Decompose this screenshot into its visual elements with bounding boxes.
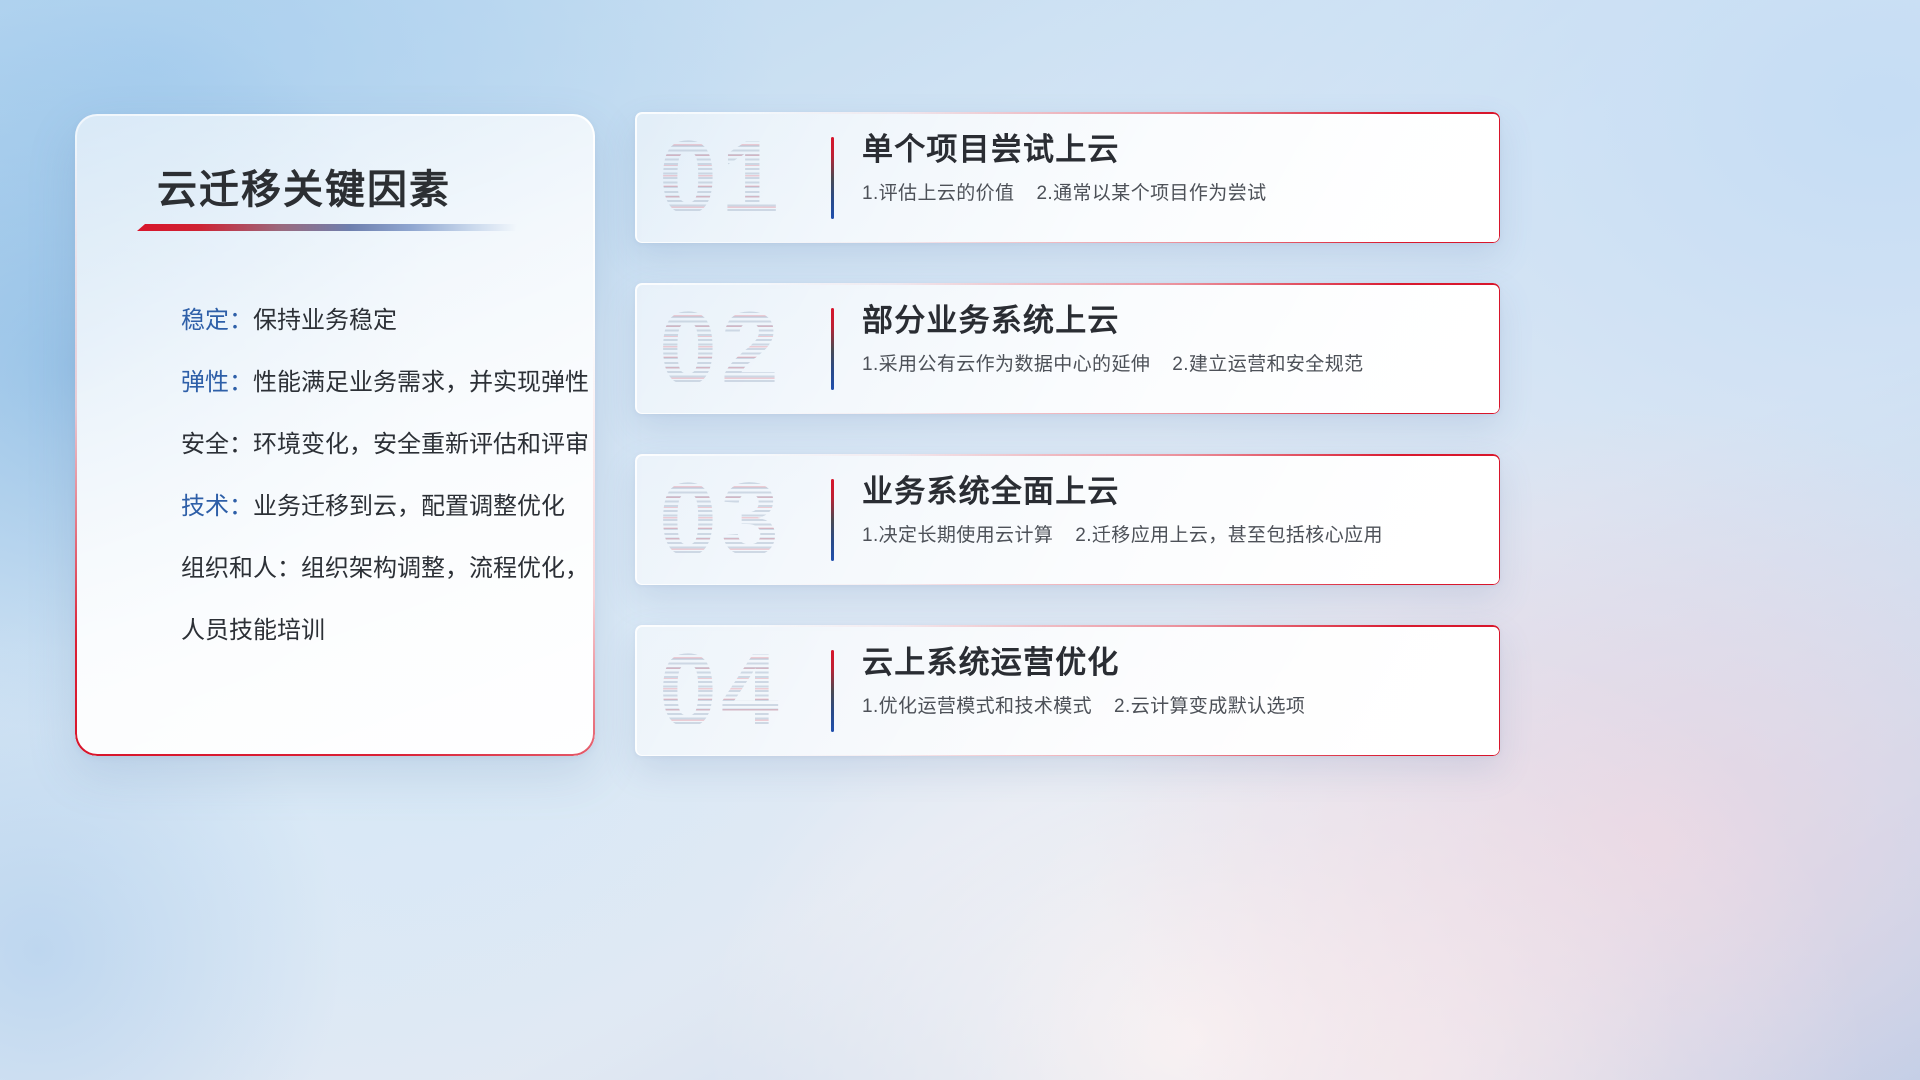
step-title: 单个项目尝试上云 (862, 131, 1476, 170)
step-number-watermark: 02 (659, 283, 809, 414)
list-item: 技术： 业务迁移到云，配置调整优化 (101, 486, 575, 548)
list-item-key: 技术： (181, 486, 253, 521)
list-item-value: 性能满足业务需求，并实现弹性 (253, 362, 589, 397)
list-item-key: 安全： (181, 424, 253, 459)
step-card[interactable]: 03 03 业务系统全面上云 1.决定长期使用云计算2.迁移应用上云，甚至包括核… (635, 454, 1500, 585)
step-point-1: 1.优化运营模式和技术模式 (862, 696, 1092, 717)
step-subtitle: 1.采用公有云作为数据中心的延伸2.建立运营和安全规范 (862, 352, 1476, 378)
step-point-1: 1.决定长期使用云计算 (862, 525, 1053, 546)
key-factors-card: 云迁移关键因素 稳定： 保持业务稳定 弹性： 性能满足业务需求，并实现弹性 安全… (75, 114, 595, 756)
step-card[interactable]: 01 01 单个项目尝试上云 1.评估上云的价值2.通常以某个项目作为尝试 (635, 112, 1500, 243)
step-title: 云上系统运营优化 (862, 644, 1476, 683)
step-point-1: 1.评估上云的价值 (862, 183, 1014, 204)
step-card[interactable]: 04 04 云上系统运营优化 1.优化运营模式和技术模式2.云计算变成默认选项 (635, 625, 1500, 756)
title-underline-gradient (137, 224, 517, 231)
step-point-2: 2.迁移应用上云，甚至包括核心应用 (1075, 525, 1383, 546)
step-subtitle: 1.决定长期使用云计算2.迁移应用上云，甚至包括核心应用 (862, 523, 1476, 549)
step-point-2: 2.通常以某个项目作为尝试 (1036, 183, 1266, 204)
step-number-watermark: 04 (659, 625, 809, 756)
list-item: 稳定： 保持业务稳定 (101, 300, 575, 362)
step-title: 部分业务系统上云 (862, 302, 1476, 341)
step-number-watermark: 03 (659, 454, 809, 585)
migration-steps-stack: 01 01 单个项目尝试上云 1.评估上云的价值2.通常以某个项目作为尝试 02… (635, 112, 1500, 756)
step-point-2: 2.建立运营和安全规范 (1172, 354, 1363, 375)
list-item-value: 人员技能培训 (181, 610, 325, 645)
step-text-block: 单个项目尝试上云 1.评估上云的价值2.通常以某个项目作为尝试 (862, 131, 1476, 206)
step-divider-bar (831, 137, 834, 219)
step-subtitle: 1.评估上云的价值2.通常以某个项目作为尝试 (862, 181, 1476, 207)
step-divider-bar (831, 479, 834, 561)
list-item: 组织和人： 组织架构调整，流程优化， (101, 548, 575, 610)
step-number-watermark: 01 (659, 112, 809, 243)
list-item-value: 组织架构调整，流程优化， (301, 548, 589, 583)
list-item-key: 稳定： (181, 300, 253, 335)
list-item-key: 组织和人： (181, 548, 301, 583)
list-item: 弹性： 性能满足业务需求，并实现弹性 (101, 362, 575, 424)
list-item-key: 弹性： (181, 362, 253, 397)
step-card[interactable]: 02 02 部分业务系统上云 1.采用公有云作为数据中心的延伸2.建立运营和安全… (635, 283, 1500, 414)
page-title: 云迁移关键因素 (157, 157, 451, 215)
step-text-block: 部分业务系统上云 1.采用公有云作为数据中心的延伸2.建立运营和安全规范 (862, 302, 1476, 377)
list-item: 人员技能培训 (101, 610, 575, 672)
step-title: 业务系统全面上云 (862, 473, 1476, 512)
list-item-value: 保持业务稳定 (253, 300, 397, 335)
list-item: 安全： 环境变化，安全重新评估和评审 (101, 424, 575, 486)
step-divider-bar (831, 650, 834, 732)
list-item-value: 业务迁移到云，配置调整优化 (253, 486, 565, 521)
step-divider-bar (831, 308, 834, 390)
key-factors-list: 稳定： 保持业务稳定 弹性： 性能满足业务需求，并实现弹性 安全： 环境变化，安… (101, 300, 575, 672)
step-text-block: 云上系统运营优化 1.优化运营模式和技术模式2.云计算变成默认选项 (862, 644, 1476, 719)
step-point-2: 2.云计算变成默认选项 (1114, 696, 1305, 717)
step-text-block: 业务系统全面上云 1.决定长期使用云计算2.迁移应用上云，甚至包括核心应用 (862, 473, 1476, 548)
list-item-value: 环境变化，安全重新评估和评审 (253, 424, 589, 459)
step-point-1: 1.采用公有云作为数据中心的延伸 (862, 354, 1150, 375)
step-subtitle: 1.优化运营模式和技术模式2.云计算变成默认选项 (862, 694, 1476, 720)
